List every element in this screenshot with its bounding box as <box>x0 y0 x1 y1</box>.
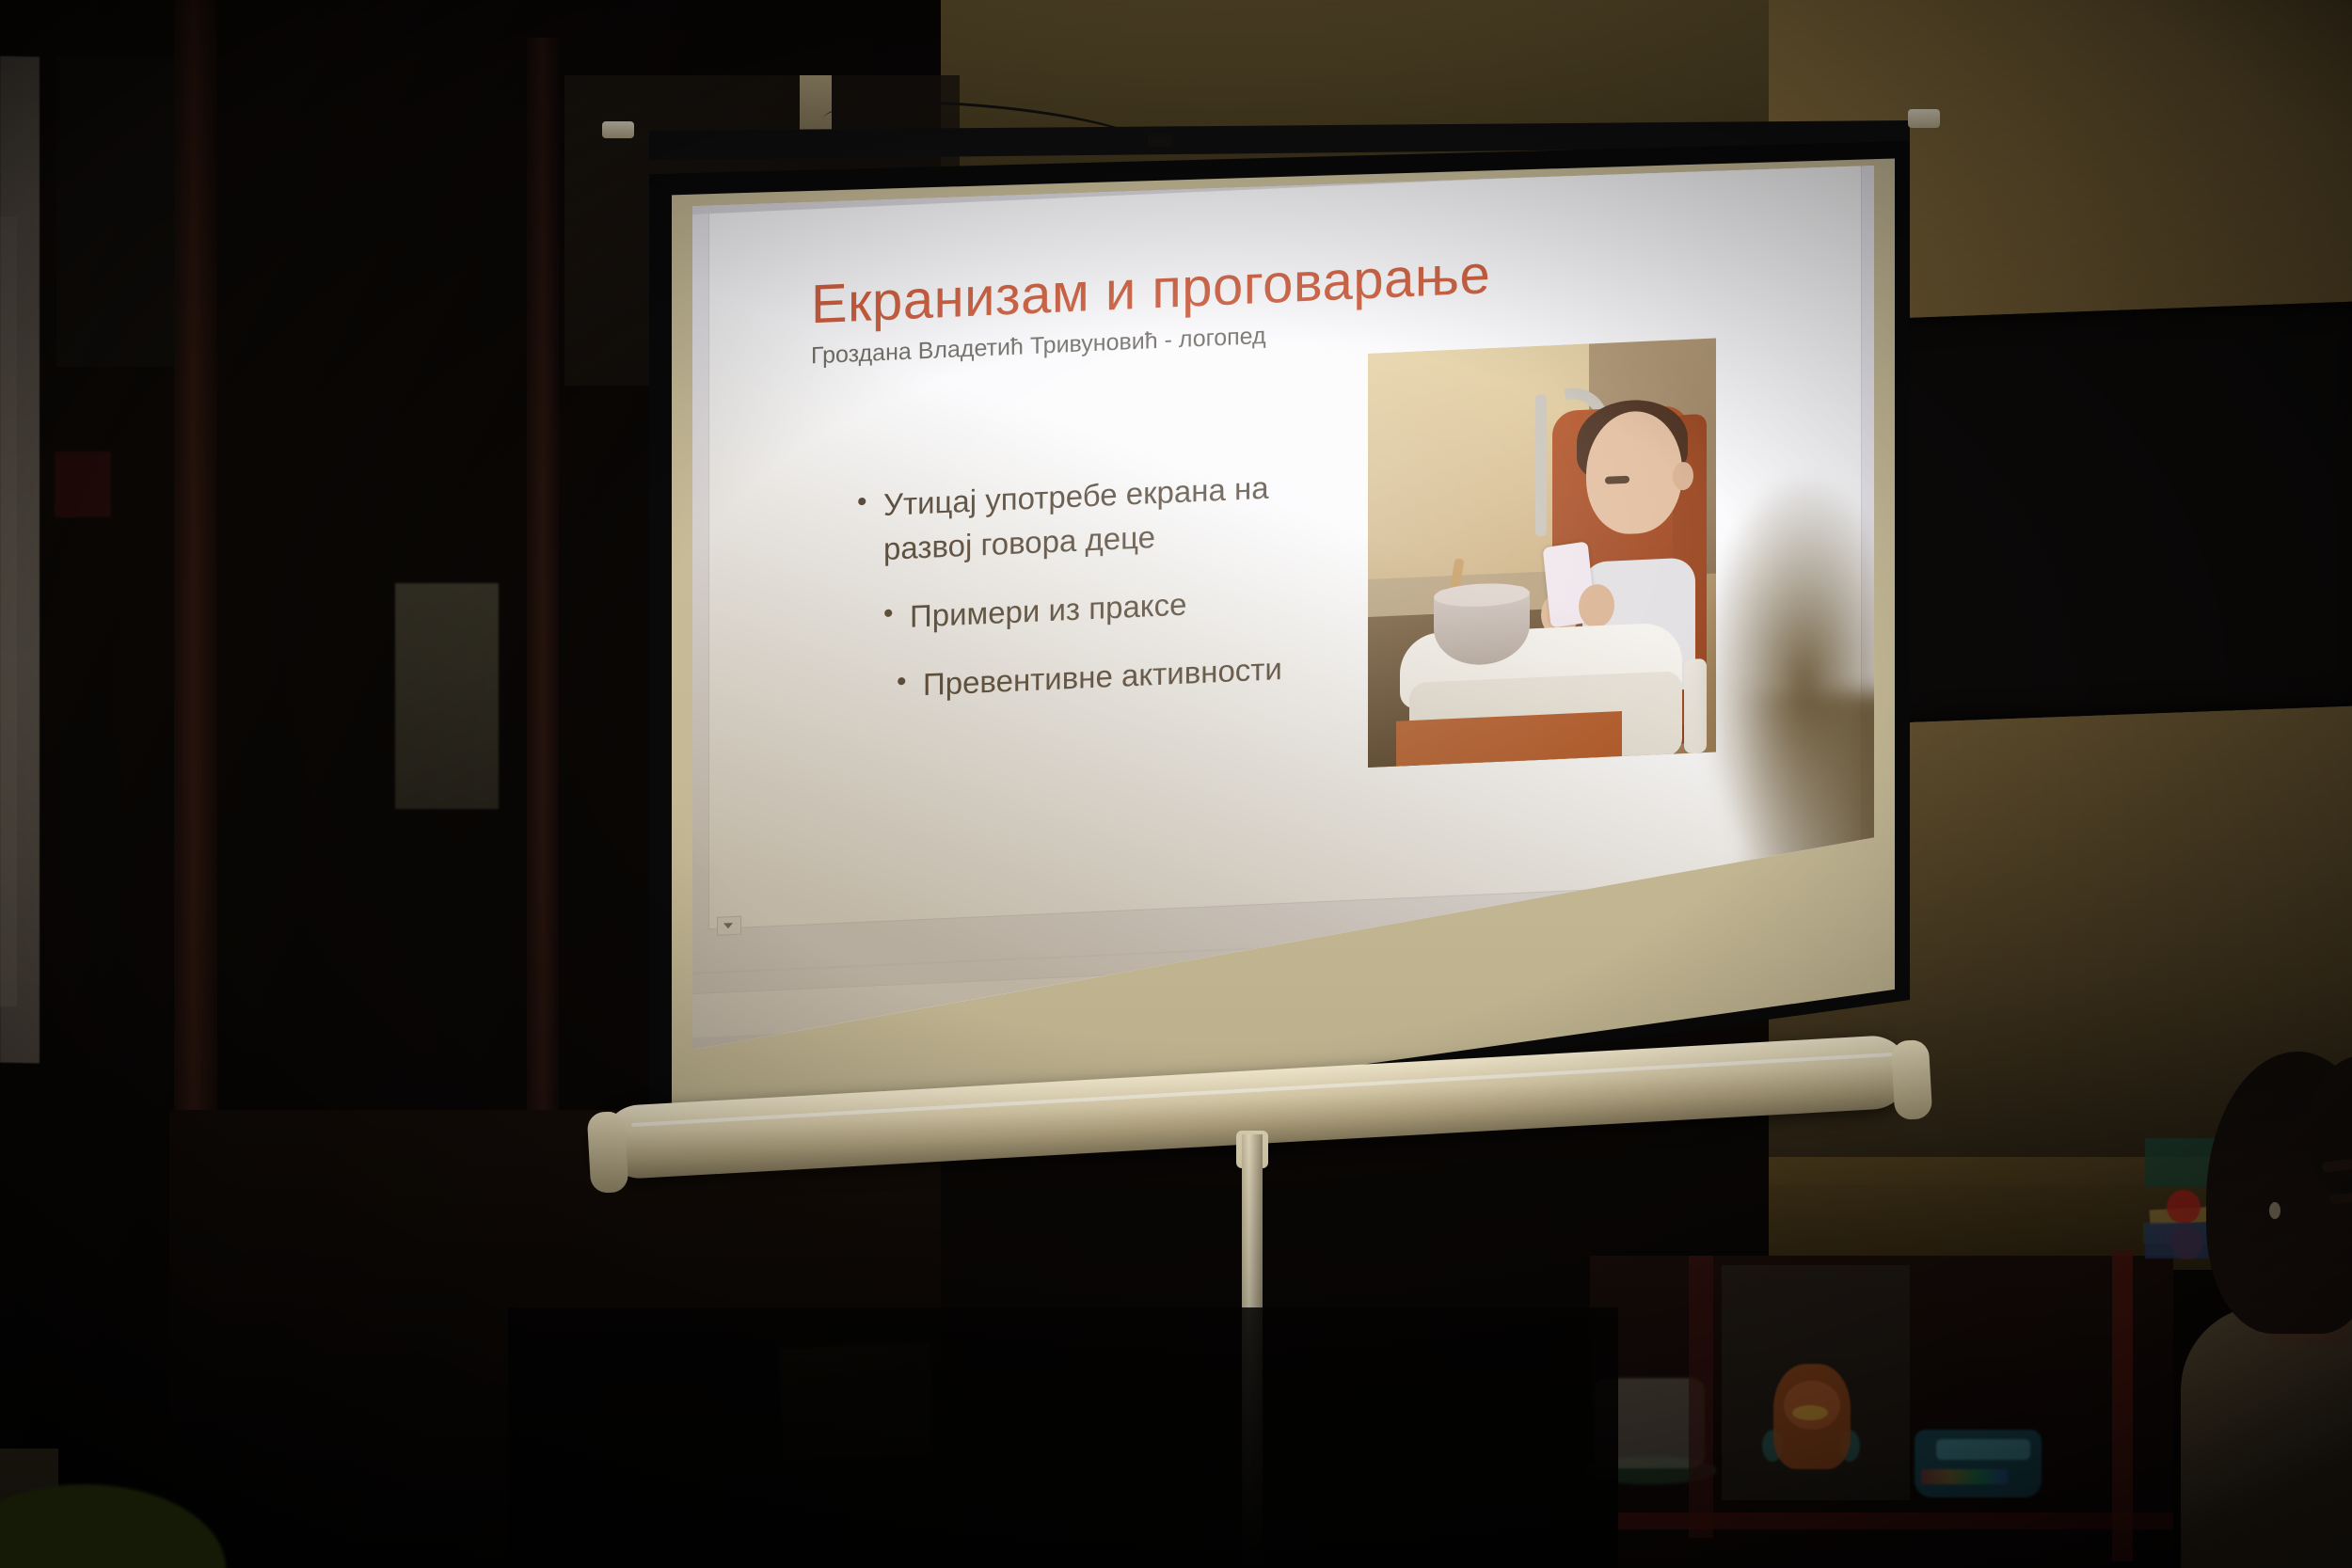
person-earring <box>2269 1202 2280 1219</box>
chevron-down-icon[interactable] <box>717 916 741 936</box>
toy-telephone-keypad <box>1936 1439 2030 1460</box>
chalkboard <box>1858 301 2352 724</box>
screen-hanging-hook <box>1148 134 1172 147</box>
slide-canvas: Екранизам и проговарање Гроздана Владети… <box>709 166 1861 928</box>
ceiling-mount <box>800 75 832 137</box>
door-lit-panel <box>395 583 499 809</box>
red-ball-upper <box>2167 1190 2201 1224</box>
screen-roller-cap-right <box>1891 1039 1933 1120</box>
wall-poster-edge <box>0 216 17 1006</box>
toy-telephone-stripe <box>1921 1469 2008 1484</box>
slide-bullet-list: Утицај употребе екрана на развој говора … <box>855 463 1354 735</box>
list-item: Утицај употребе екрана на развој говора … <box>883 463 1354 572</box>
list-item: Примери из праксе <box>910 575 1354 639</box>
classroom-photo-scene: Екранизам и проговарање Гроздана Владети… <box>0 0 2352 1568</box>
list-item: Превентивне активности <box>923 643 1354 706</box>
screen-top-cap-left <box>602 121 634 138</box>
duck-toy-beak <box>1792 1405 1828 1420</box>
slide-photo-child-with-phone <box>1368 339 1716 768</box>
screen-roller-cap-left <box>587 1111 629 1194</box>
screen-top-cap-right <box>1908 109 1940 128</box>
projection-screen-assembly: Екранизам и проговарање Гроздана Владети… <box>621 113 1919 1223</box>
photo-high-chair-base <box>1396 711 1622 768</box>
photo-chair-strap <box>1684 658 1707 753</box>
shelf-board <box>1590 1513 2173 1529</box>
shelf-post <box>2112 1251 2133 1561</box>
red-wall-tag <box>55 451 111 517</box>
photo-child-head <box>1586 409 1682 536</box>
shelf-divider <box>1689 1256 1713 1538</box>
door-panel-upper <box>56 56 179 367</box>
floor-shadow <box>508 1307 1618 1568</box>
photo-child-eye <box>1605 476 1629 484</box>
